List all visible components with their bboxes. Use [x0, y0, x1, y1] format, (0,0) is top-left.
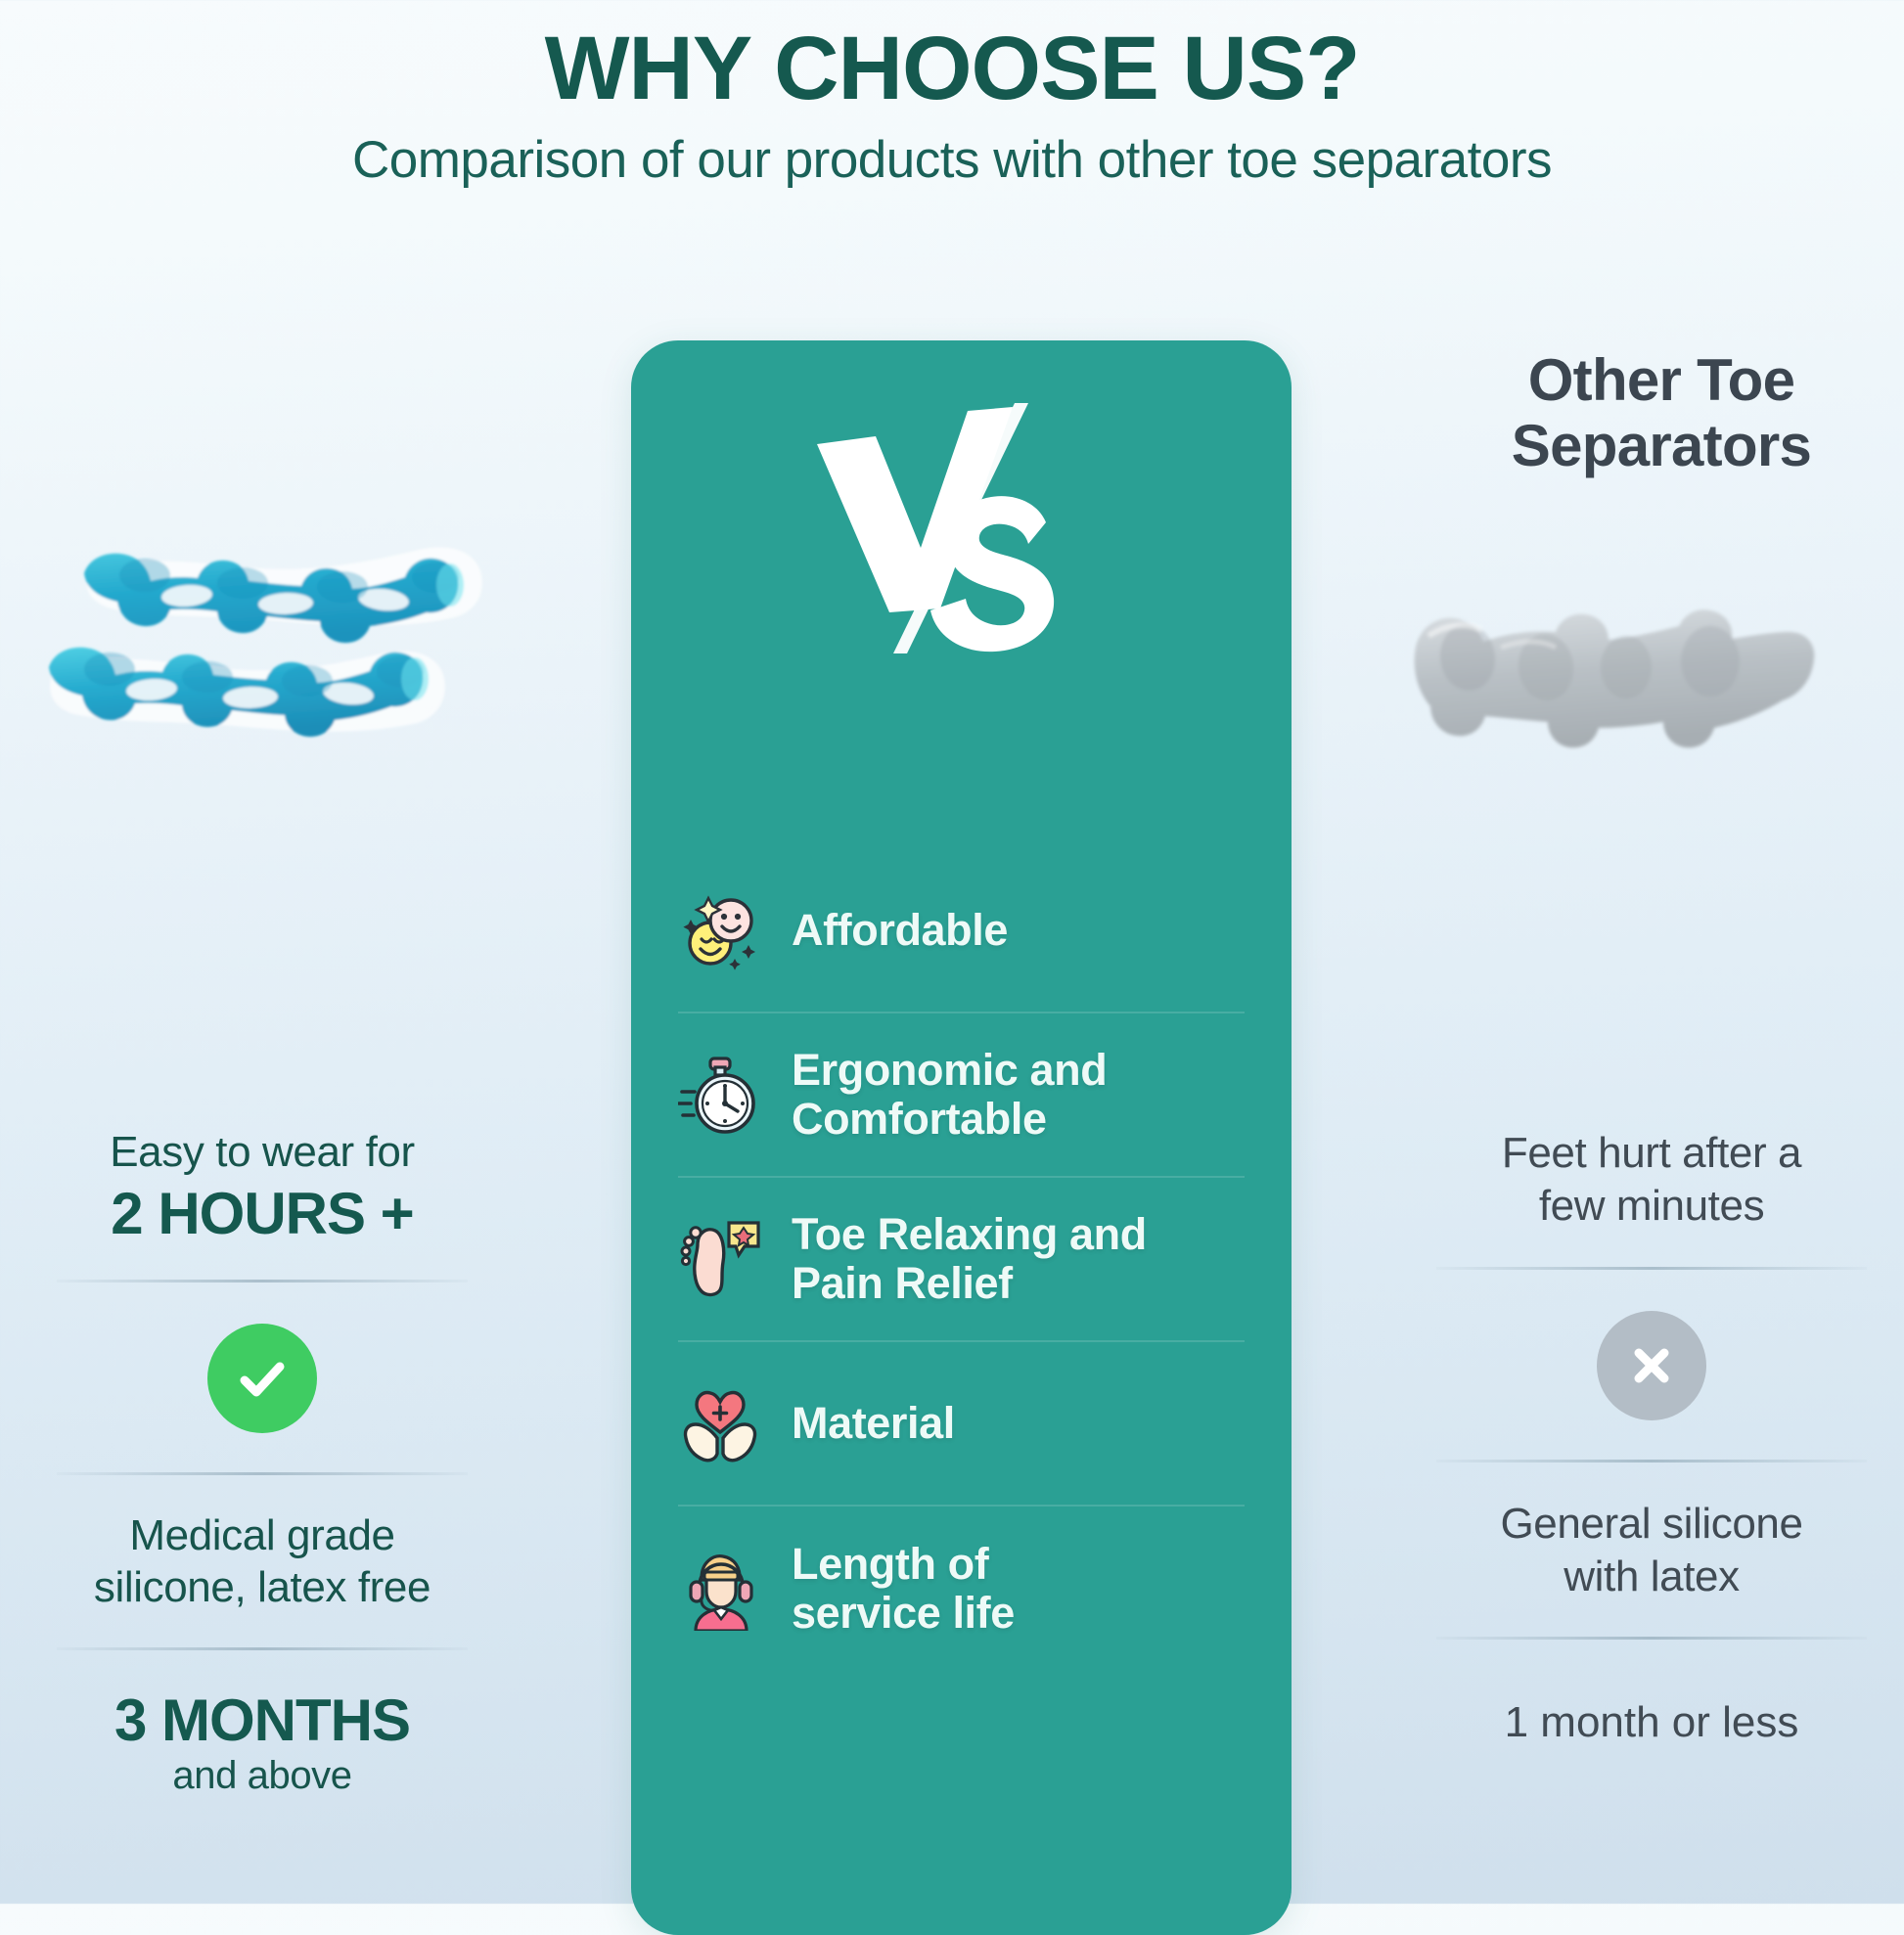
foot-care-icon — [678, 1217, 762, 1301]
our-material-line2: silicone, latex free — [57, 1562, 468, 1614]
other-service-life: 1 month or less — [1436, 1640, 1867, 1749]
other-product-image — [1399, 577, 1904, 900]
feature-row-ergonomic[interactable]: Ergonomic and Comfortable — [678, 1013, 1245, 1178]
other-product-column: Feet hurt after a few minutes General si… — [1436, 1127, 1867, 1748]
cross-icon — [1620, 1334, 1683, 1397]
our-service-life-value: 3 MONTHS — [57, 1689, 468, 1752]
feature-row-pain-relief[interactable]: Toe Relaxing and Pain Relief — [678, 1178, 1245, 1342]
page-subtitle: Comparison of our products with other to… — [0, 130, 1904, 190]
our-material: Medical grade silicone, latex free — [57, 1475, 468, 1647]
other-material-line1: General silicone — [1436, 1498, 1867, 1551]
page-title: WHY CHOOSE US? — [0, 22, 1904, 116]
header: WHY CHOOSE US? Comparison of our product… — [0, 22, 1904, 190]
our-comfort-badge-row — [57, 1282, 468, 1472]
other-product-heading: Other Toe Separators — [1407, 347, 1904, 478]
our-service-life: 3 MONTHS and above — [57, 1650, 468, 1799]
check-badge — [207, 1324, 317, 1433]
customer-support-agent-icon — [678, 1547, 762, 1631]
separator-lower — [49, 648, 445, 737]
heart-in-hands-icon — [678, 1381, 762, 1465]
cross-badge — [1597, 1311, 1706, 1420]
feature-list: Affordable — [631, 849, 1292, 1671]
other-heading-line1: Other Toe Separators — [1512, 347, 1811, 478]
center-comparison-panel: Affordable — [631, 340, 1292, 1935]
other-comfort-badge-row — [1436, 1270, 1867, 1460]
feature-label: Ergonomic and Comfortable — [792, 1046, 1107, 1145]
other-wear-time-line1: Feet hurt after a — [1436, 1127, 1867, 1180]
feature-label: Material — [792, 1399, 955, 1448]
other-wear-time-line2: few minutes — [1436, 1180, 1867, 1233]
feature-label: Length of service life — [792, 1540, 1015, 1639]
feature-row-service-life[interactable]: Length of service life — [678, 1507, 1245, 1671]
separator-upper — [84, 548, 482, 644]
sparkle-smiley-icon — [678, 888, 762, 972]
other-wear-time: Feet hurt after a few minutes — [1436, 1127, 1867, 1267]
stopwatch-icon — [678, 1053, 762, 1137]
our-material-line1: Medical grade — [57, 1510, 468, 1562]
feature-row-material[interactable]: Material — [678, 1342, 1245, 1507]
vs-logo — [631, 401, 1292, 655]
our-service-life-note: and above — [57, 1752, 468, 1799]
feature-row-affordable[interactable]: Affordable — [678, 849, 1245, 1013]
our-wear-time-label: Easy to wear for — [57, 1127, 468, 1179]
infographic-root: WHY CHOOSE US? Comparison of our product… — [0, 0, 1904, 1904]
our-product-column: Easy to wear for 2 HOURS + Medical grade… — [57, 1127, 468, 1799]
feature-label: Toe Relaxing and Pain Relief — [792, 1210, 1147, 1309]
other-material-line2: with latex — [1436, 1551, 1867, 1603]
our-product-image — [39, 460, 587, 783]
our-wear-time-value: 2 HOURS + — [57, 1183, 468, 1245]
other-service-life-value: 1 month or less — [1436, 1696, 1867, 1749]
other-material: General silicone with latex — [1436, 1462, 1867, 1636]
our-wear-time: Easy to wear for 2 HOURS + — [57, 1127, 468, 1280]
feature-label: Affordable — [792, 906, 1008, 955]
check-icon — [231, 1347, 294, 1410]
